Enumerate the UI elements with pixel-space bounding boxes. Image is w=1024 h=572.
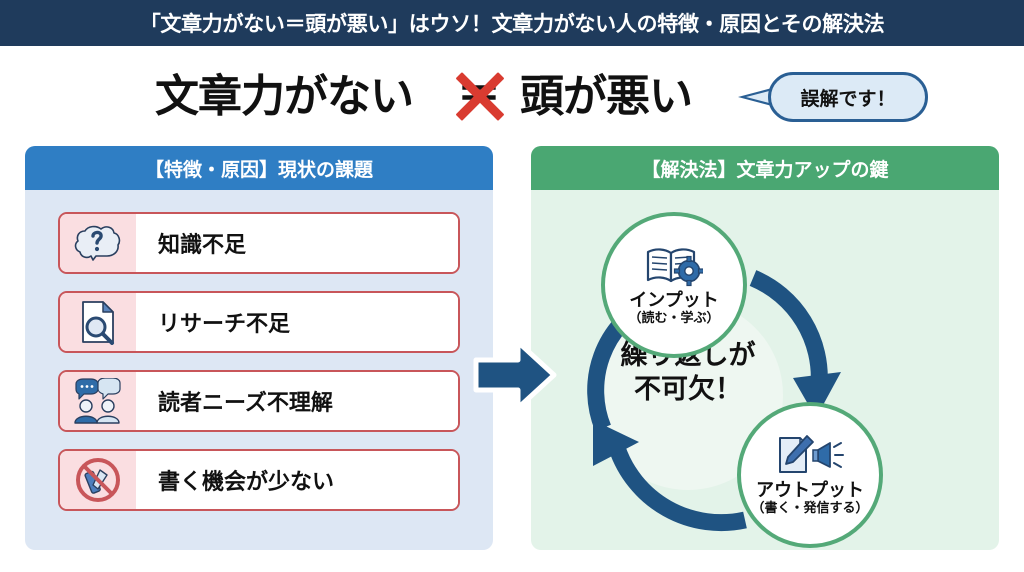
cycle-node-output: アウトプット （書く・発信する） <box>737 402 883 548</box>
crossed-equals-group: ＝ <box>448 66 510 122</box>
problems-panel: 【特徴・原因】現状の課題 知識不足 リサーチ不 <box>25 146 493 550</box>
cycle-arrow-bottom-shaft <box>617 448 745 523</box>
list-item: 書く機会が少ない <box>58 449 460 511</box>
speech-bubble: 誤解です！ <box>768 72 928 122</box>
list-item-label: 書く機会が少ない <box>136 451 458 509</box>
problems-panel-header-text: 【特徴・原因】現状の課題 <box>145 155 373 182</box>
speech-bubble-text: 誤解です！ <box>800 84 895 111</box>
problems-list: 知識不足 リサーチ不足 <box>25 190 493 511</box>
cycle-node-input: インプット （読む・学ぶ） <box>601 212 747 358</box>
list-item-label: 読者ニーズ不理解 <box>136 372 458 430</box>
cycle-center-line-2: 不可欠！ <box>583 372 793 406</box>
list-item: リサーチ不足 <box>58 291 460 353</box>
list-item-label: 知識不足 <box>136 214 458 272</box>
list-item: 知識不足 <box>58 212 460 274</box>
problems-panel-header: 【特徴・原因】現状の課題 <box>25 146 493 190</box>
no-writing-prohibited-icon <box>60 451 136 509</box>
solution-panel-header-text: 【解決法】文章力アップの鍵 <box>641 155 888 182</box>
hero-right-text: 頭が悪い <box>520 60 692 124</box>
cycle-node-input-subtitle: （読む・学ぶ） <box>628 310 719 326</box>
hero-left-text: 文章力がない <box>155 60 413 124</box>
brain-question-icon <box>60 214 136 272</box>
page-header-title: 「文章力がない＝頭が悪い」はウソ！文章力がない人の特徴・原因とその解決法 <box>140 8 885 38</box>
input-output-cycle-diagram: 繰り返しが 不可欠！ <box>531 190 999 550</box>
page-header-band: 「文章力がない＝頭が悪い」はウソ！文章力がない人の特徴・原因とその解決法 <box>0 0 1024 46</box>
right-arrow-icon <box>470 330 560 420</box>
document-magnifier-icon <box>60 293 136 351</box>
cycle-node-input-title: インプット <box>629 290 718 310</box>
list-item-label: リサーチ不足 <box>136 293 458 351</box>
solution-panel-header: 【解決法】文章力アップの鍵 <box>531 146 999 190</box>
cycle-node-output-title: アウトプット <box>756 480 864 500</box>
open-book-gear-icon <box>645 244 703 288</box>
cycle-node-output-subtitle: （書く・発信する） <box>751 500 868 516</box>
people-speech-bubbles-icon <box>60 372 136 430</box>
document-pen-megaphone-icon <box>774 434 846 478</box>
list-item: 読者ニーズ不理解 <box>58 370 460 432</box>
